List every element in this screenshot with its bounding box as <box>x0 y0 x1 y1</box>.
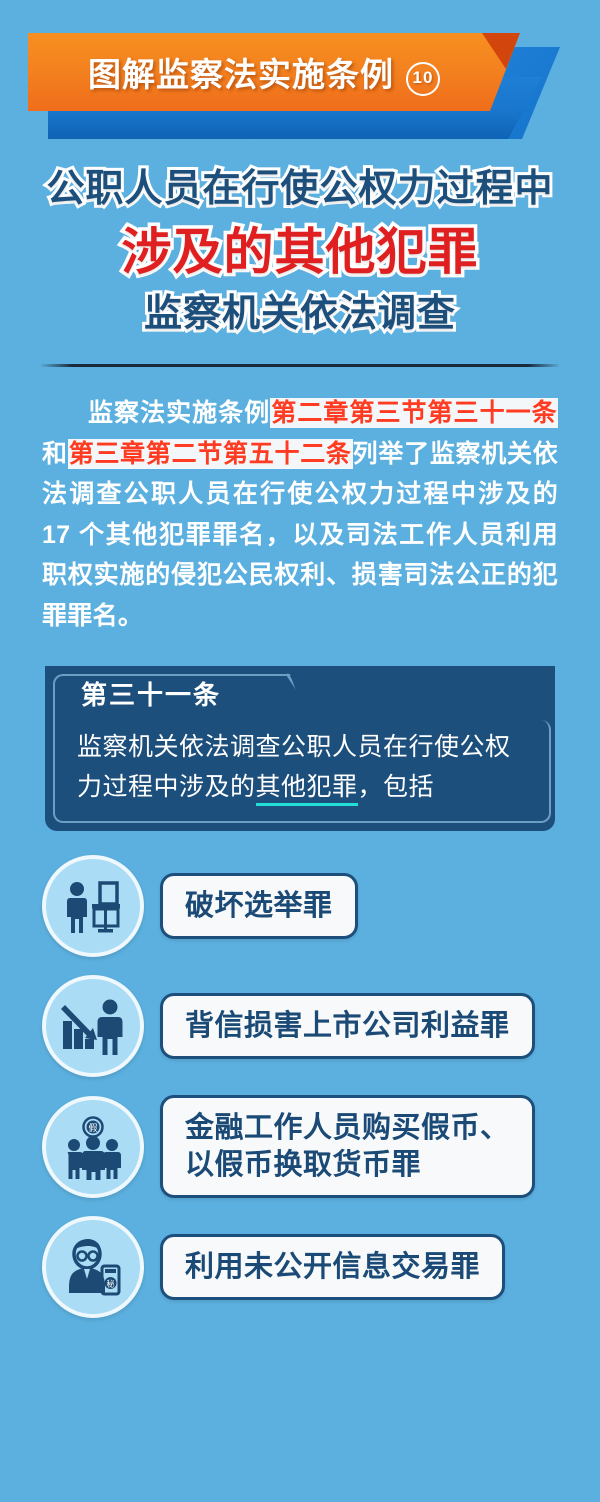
group-fake-currency-icon: 假 <box>42 1096 144 1198</box>
banner-orange-bar: 图解监察法实施条例10 <box>28 33 520 111</box>
intro-paragraph: 监察法实施条例第二章第三节第三十一条和第三章第二节第五十二条列举了监察机关依法调… <box>42 393 558 636</box>
person-secret-document-icon: 秘 <box>42 1216 144 1318</box>
paragraph-segment-1: 监察法实施条例 <box>88 399 270 427</box>
page-title-line-1: 公职人员在行使公权力过程中 <box>0 165 600 214</box>
list-item[interactable]: 破坏选举罪 <box>0 855 600 957</box>
article-card: 第三十一条 监察机关依法调查公职人员在行使公权力过程中涉及的其他犯罪，包括 <box>45 666 555 831</box>
banner-title-text: 图解监察法实施条例 <box>88 56 394 93</box>
list-item[interactable]: 假 金融工作人员购买假币、 以假币换取货币罪 <box>0 1095 600 1198</box>
header-banner: 图解监察法实施条例10 <box>0 25 600 143</box>
declining-chart-person-icon <box>42 975 144 1077</box>
article-card-tab: 第三十一条 <box>45 666 555 720</box>
paragraph-segment-2: 和 <box>42 440 68 468</box>
crime-label: 背信损害上市公司利益罪 <box>160 993 535 1059</box>
list-item[interactable]: 秘 利用未公开信息交易罪 <box>0 1216 600 1318</box>
banner-episode-number: 10 <box>406 62 440 96</box>
paragraph-highlight-1: 第二章第三节第三十一条 <box>270 398 558 428</box>
paragraph-highlight-2: 第三章第二节第五十二条 <box>68 439 353 469</box>
article-body-underlined-term: 其他犯罪 <box>256 773 358 806</box>
page-title-line-2: 涉及的其他犯罪 <box>0 220 600 284</box>
list-item[interactable]: 背信损害上市公司利益罪 <box>0 975 600 1077</box>
article-card-tab-diagonal <box>285 672 319 720</box>
crime-list: 破坏选举罪 背信损害上市公司利益罪 <box>0 855 600 1318</box>
crime-label: 利用未公开信息交易罪 <box>160 1234 505 1300</box>
person-at-ballot-podium-icon <box>42 855 144 957</box>
svg-text:秘: 秘 <box>107 1278 115 1288</box>
crime-label: 金融工作人员购买假币、 以假币换取货币罪 <box>160 1095 535 1198</box>
article-number-label: 第三十一条 <box>81 675 221 712</box>
page-title-line-3: 监察机关依法调查 <box>0 290 600 339</box>
section-divider <box>41 364 559 367</box>
crime-label: 破坏选举罪 <box>160 873 358 939</box>
page-title: 公职人员在行使公权力过程中 涉及的其他犯罪 监察机关依法调查 <box>0 165 600 338</box>
article-card-body: 监察机关依法调查公职人员在行使公权力过程中涉及的其他犯罪，包括 <box>45 720 555 811</box>
svg-text:假: 假 <box>88 1123 97 1133</box>
banner-title: 图解监察法实施条例10 <box>88 48 440 96</box>
article-body-suffix: ，包括 <box>358 773 435 801</box>
